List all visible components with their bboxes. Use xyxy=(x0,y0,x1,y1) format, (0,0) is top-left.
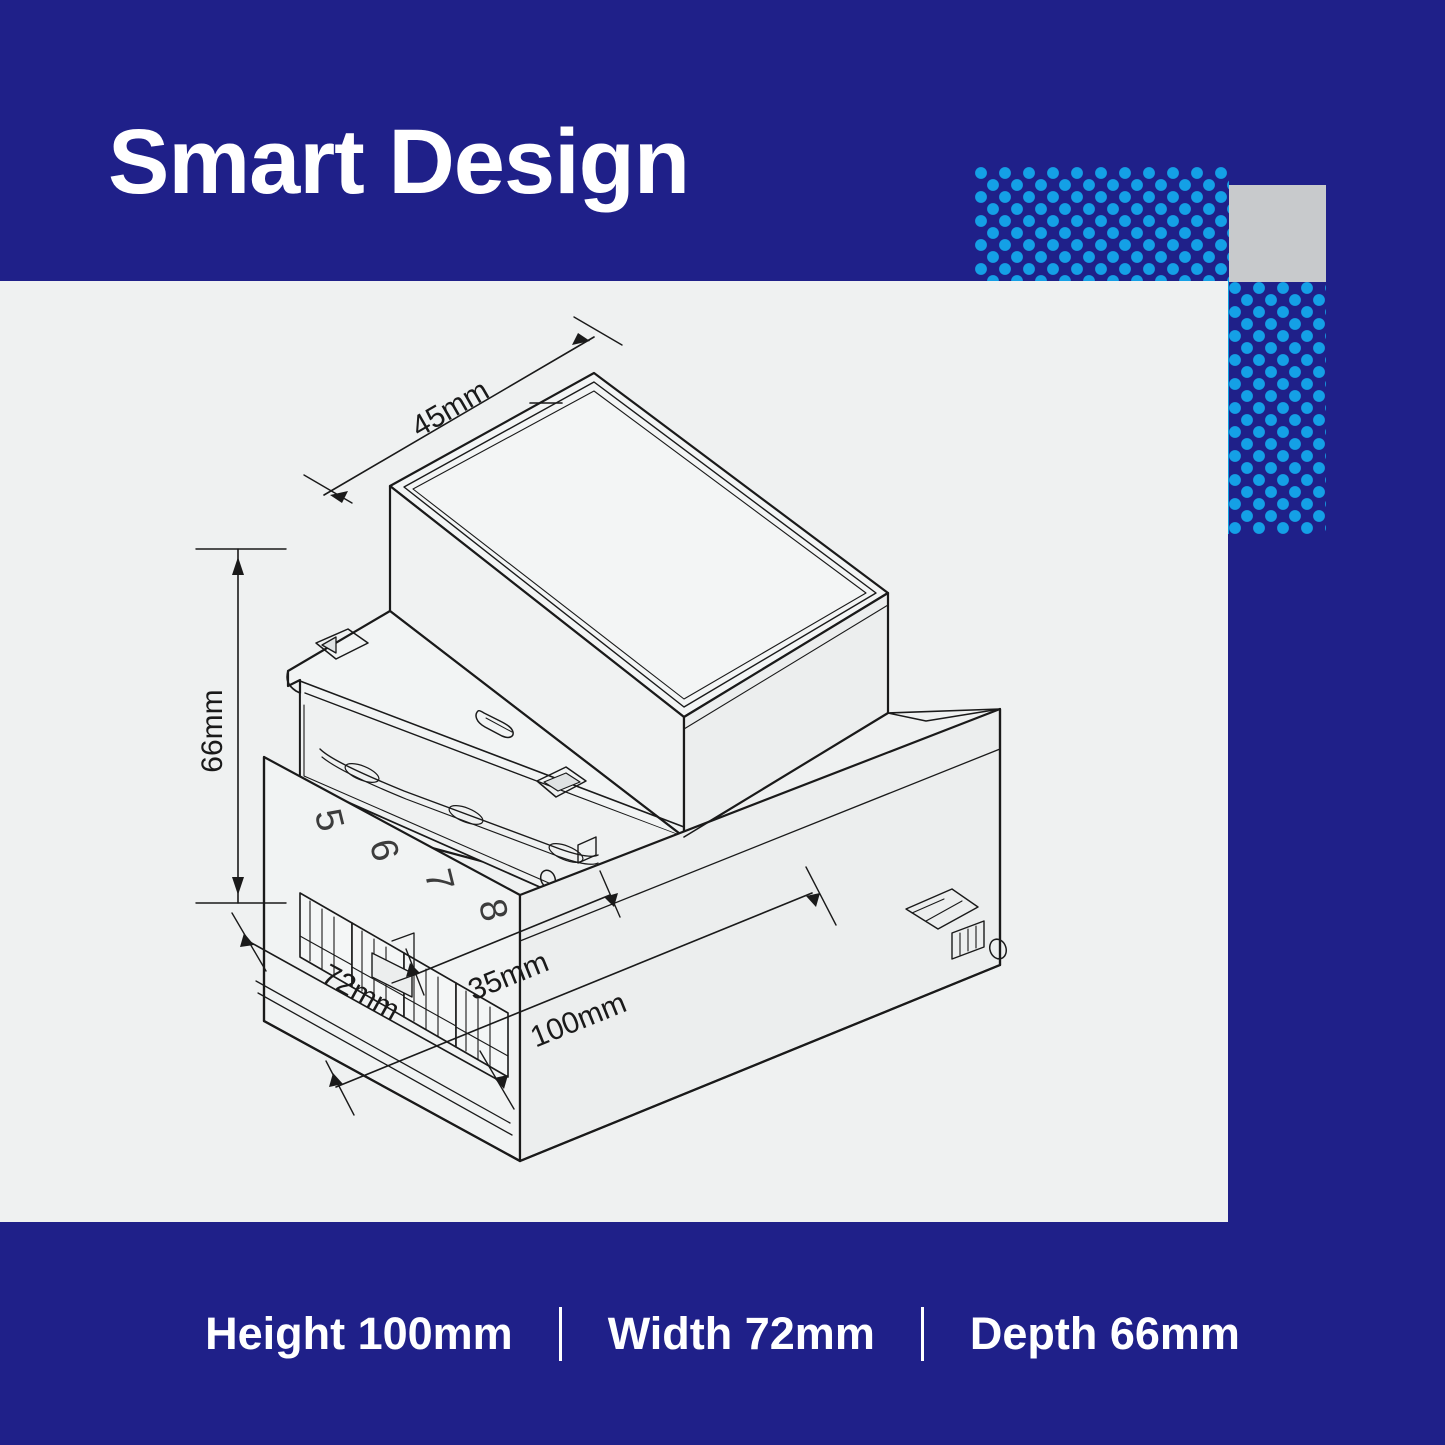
footer-band: Height 100mm Width 72mm Depth 66mm xyxy=(0,1222,1445,1445)
footer-spec-list: Height 100mm Width 72mm Depth 66mm xyxy=(159,1307,1286,1361)
footer-spec-height: Height 100mm xyxy=(159,1308,559,1360)
footer-spec-depth: Depth 66mm xyxy=(924,1308,1286,1360)
footer-spec-width: Width 72mm xyxy=(562,1308,921,1360)
page-title: Smart Design xyxy=(108,116,689,208)
decor-dot-band-top xyxy=(975,167,1229,281)
decor-dot-strip-right xyxy=(1229,282,1326,534)
decor-gray-square xyxy=(1229,185,1326,282)
drawing-panel: 45mm 66mm 72mm 35mm 100mm 5 6 7 8 xyxy=(0,281,1228,1222)
infographic-root: Smart Design xyxy=(0,0,1445,1445)
dimension-label-66mm: 66mm xyxy=(196,689,229,772)
dimension-label-45mm: 45mm xyxy=(406,374,495,444)
product-technical-drawing: 45mm 66mm 72mm 35mm 100mm 5 6 7 8 xyxy=(0,281,1228,1222)
